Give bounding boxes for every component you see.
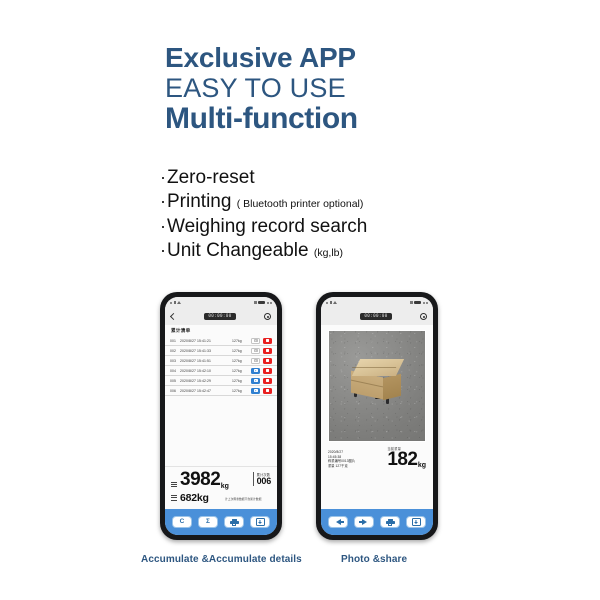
carton-strap (352, 367, 397, 368)
camera-icon (254, 339, 258, 342)
chevron-left-icon[interactable] (170, 313, 177, 320)
status-triangle-icon (177, 301, 181, 304)
status-dot-icon (423, 302, 425, 304)
row-datetime: 2020/8/27 15:42:47 (180, 389, 229, 393)
save-button[interactable] (250, 516, 270, 528)
heading-line-3: Multi-function (165, 103, 358, 134)
row-datetime: 2020/8/27 15:42:29 (180, 379, 229, 383)
arrow-right-icon (362, 519, 367, 525)
accumulate-button-label: Σ (206, 519, 210, 526)
bullet-dot: · (160, 191, 166, 211)
row-delete-button[interactable] (263, 338, 272, 344)
trash-icon (266, 339, 270, 343)
clock-title-badge: 00:00:00 (204, 313, 235, 320)
row-photo-button[interactable] (251, 388, 260, 394)
totals-note: 计上次称重数据不含累计数据 (225, 498, 271, 502)
poster-canvas: Exclusive APP EASY TO USE Multi-function… (0, 0, 600, 600)
list-title: 累计清单 (165, 325, 277, 336)
row-delete-button[interactable] (263, 388, 272, 394)
total-weight-value: 3982 (180, 471, 220, 489)
battery-icon (414, 301, 421, 305)
caption-left: Accumulate &Accumulate details (141, 554, 302, 565)
feature-item-record-search: ·Weighing record search (160, 215, 367, 239)
app-bar-left: 00:00:00 (165, 308, 277, 325)
printer-icon (386, 519, 395, 526)
arrow-left-icon (336, 519, 341, 525)
camera-icon (254, 369, 258, 372)
current-weight-unit: kg (418, 462, 426, 469)
print-button[interactable] (224, 516, 244, 528)
status-right-icons (254, 301, 273, 305)
accumulate-button[interactable]: Σ (198, 516, 218, 528)
row-number: 005 (170, 379, 177, 383)
trash-icon (266, 389, 270, 393)
row-photo-button[interactable] (251, 338, 260, 344)
bullet-dot: · (160, 216, 166, 236)
heading-line-2: EASY TO USE (165, 74, 358, 102)
signal-icon (410, 301, 413, 304)
row-weight: 127kg (232, 339, 248, 343)
printer-icon (230, 519, 239, 526)
print-button[interactable] (380, 516, 400, 528)
feature-label: Zero-reset (167, 167, 255, 188)
trash-icon (266, 359, 270, 363)
save-button[interactable] (406, 516, 426, 528)
feature-label: Weighing record search (167, 216, 367, 237)
trash-icon (266, 369, 270, 373)
row-photo-button[interactable] (251, 368, 260, 374)
phone-body-left: 累计清单 001 2020/8/27 15:41:21 127kg 002 20… (165, 325, 277, 509)
row-datetime: 2020/8/27 15:42:10 (180, 369, 229, 373)
bottom-toolbar-left: C Σ (165, 509, 277, 535)
weighing-photo[interactable] (328, 330, 426, 442)
row-delete-button[interactable] (263, 358, 272, 364)
table-row[interactable]: 006 2020/8/27 15:42:47 127kg (165, 386, 277, 396)
phone-screen-left: 00:00:00 累计清单 001 2020/8/27 15:41:21 127… (165, 297, 277, 535)
status-dot-icon (426, 302, 428, 304)
gear-icon[interactable] (420, 313, 427, 320)
row-datetime: 2020/8/27 15:41:51 (180, 359, 229, 363)
row-number: 001 (170, 339, 177, 343)
row-delete-button[interactable] (263, 378, 272, 384)
clock-title-badge: 00:00:00 (360, 313, 391, 320)
status-bar (165, 297, 277, 308)
trash-icon (266, 349, 270, 353)
gear-icon[interactable] (264, 313, 271, 320)
phone-body-right: 2020/8/27 15:45:38 称重编号0013图片 重量 127千克 当… (321, 325, 433, 509)
heading-line-1: Exclusive APP (165, 43, 358, 72)
battery-icon (258, 301, 265, 305)
count-value: 006 (257, 477, 271, 486)
table-row[interactable]: 004 2020/8/27 15:42:10 127kg (165, 366, 277, 376)
count-block: 累计次数 006 (253, 472, 271, 486)
sub-weight-value: 682kg (180, 493, 209, 504)
save-icon (256, 518, 265, 526)
carton-side (383, 374, 401, 400)
row-photo-button[interactable] (251, 378, 260, 384)
camera-icon (254, 359, 258, 362)
status-dot-icon (326, 302, 328, 304)
share-button[interactable] (354, 516, 374, 528)
photo-meta: 2020/8/27 15:45:38 称重编号0013图片 重量 127千克 当… (321, 442, 433, 469)
status-bar-icon (330, 301, 332, 304)
clear-button-label: C (180, 519, 185, 526)
signal-icon (254, 301, 257, 304)
save-icon (412, 518, 421, 526)
current-weight-value: 182 (387, 451, 417, 469)
status-dot-icon (170, 302, 172, 304)
caption-right: Photo &share (341, 554, 407, 565)
photo-meta-text: 2020/8/27 15:45:38 称重编号0013图片 重量 127千克 (328, 450, 387, 469)
row-weight: 127kg (232, 379, 248, 383)
camera-icon (254, 349, 258, 352)
feature-label: Unit Changeable (167, 240, 309, 261)
row-number: 003 (170, 359, 177, 363)
clear-button[interactable]: C (172, 516, 192, 528)
row-photo-button[interactable] (251, 348, 260, 354)
status-left-icons (326, 301, 337, 304)
table-row[interactable]: 005 2020/8/27 15:42:29 127kg (165, 376, 277, 386)
status-right-icons (410, 301, 429, 305)
status-triangle-icon (333, 301, 337, 304)
status-bar (321, 297, 433, 308)
feature-list: ·Zero-reset ·Printing ( Bluetooth printe… (160, 166, 367, 263)
row-number: 006 (170, 389, 177, 393)
bottom-toolbar-right (321, 509, 433, 535)
app-bar-right: 00:00:00 (321, 308, 433, 325)
status-bar-icon (174, 301, 176, 304)
bullet-dot: · (160, 167, 166, 187)
phone-screen-right: 00:00:00 (321, 297, 433, 535)
headings-block: Exclusive APP EASY TO USE Multi-function (165, 43, 358, 134)
feature-item-printing: ·Printing ( Bluetooth printer optional) (160, 190, 367, 214)
status-dot-icon (267, 302, 269, 304)
phone-mockup-right: 00:00:00 (316, 292, 438, 540)
table-row[interactable]: 001 2020/8/27 15:41:21 127kg (165, 336, 277, 346)
status-left-icons (170, 301, 181, 304)
camera-icon (254, 379, 258, 382)
photo-container (321, 325, 433, 442)
status-dot-icon (270, 302, 272, 304)
totals-panel: 3982 kg 682kg 累计次数 006 计上次称重数据不含累计数据 (165, 466, 277, 509)
table-row[interactable]: 002 2020/8/27 15:41:33 127kg (165, 346, 277, 356)
current-weight-row: 182 kg (387, 451, 426, 469)
camera-icon (254, 389, 258, 392)
bullet-dot: · (160, 240, 166, 260)
total-weight-unit: kg (221, 483, 229, 490)
row-weight: 127kg (232, 369, 248, 373)
list-icon (171, 495, 177, 501)
row-delete-button[interactable] (263, 348, 272, 354)
photo-note-2: 重量 127千克 (328, 464, 387, 469)
feature-note: ( Bluetooth printer optional) (237, 198, 364, 210)
feature-label: Printing (167, 191, 231, 212)
row-weight: 127kg (232, 359, 248, 363)
trash-icon (266, 379, 270, 383)
feature-item-unit-changeable: ·Unit Changeable (kg,lb) (160, 239, 367, 263)
table-row[interactable]: 003 2020/8/27 15:41:51 127kg (165, 356, 277, 366)
list-icon (171, 482, 177, 488)
feature-note: (kg,lb) (314, 247, 343, 259)
phone-mockup-left: 00:00:00 累计清单 001 2020/8/27 15:41:21 127… (160, 292, 282, 540)
back-button[interactable] (328, 516, 348, 528)
row-number: 004 (170, 369, 177, 373)
row-number: 002 (170, 349, 177, 353)
row-datetime: 2020/8/27 15:41:33 (180, 349, 229, 353)
row-weight: 127kg (232, 389, 248, 393)
row-datetime: 2020/8/27 15:41:21 (180, 339, 229, 343)
row-delete-button[interactable] (263, 368, 272, 374)
feature-item-zero-reset: ·Zero-reset (160, 166, 367, 190)
current-weight-block: 当前重量 182 kg (387, 446, 426, 469)
row-weight: 127kg (232, 349, 248, 353)
row-photo-button[interactable] (251, 358, 260, 364)
appbar-spacer (327, 314, 332, 319)
